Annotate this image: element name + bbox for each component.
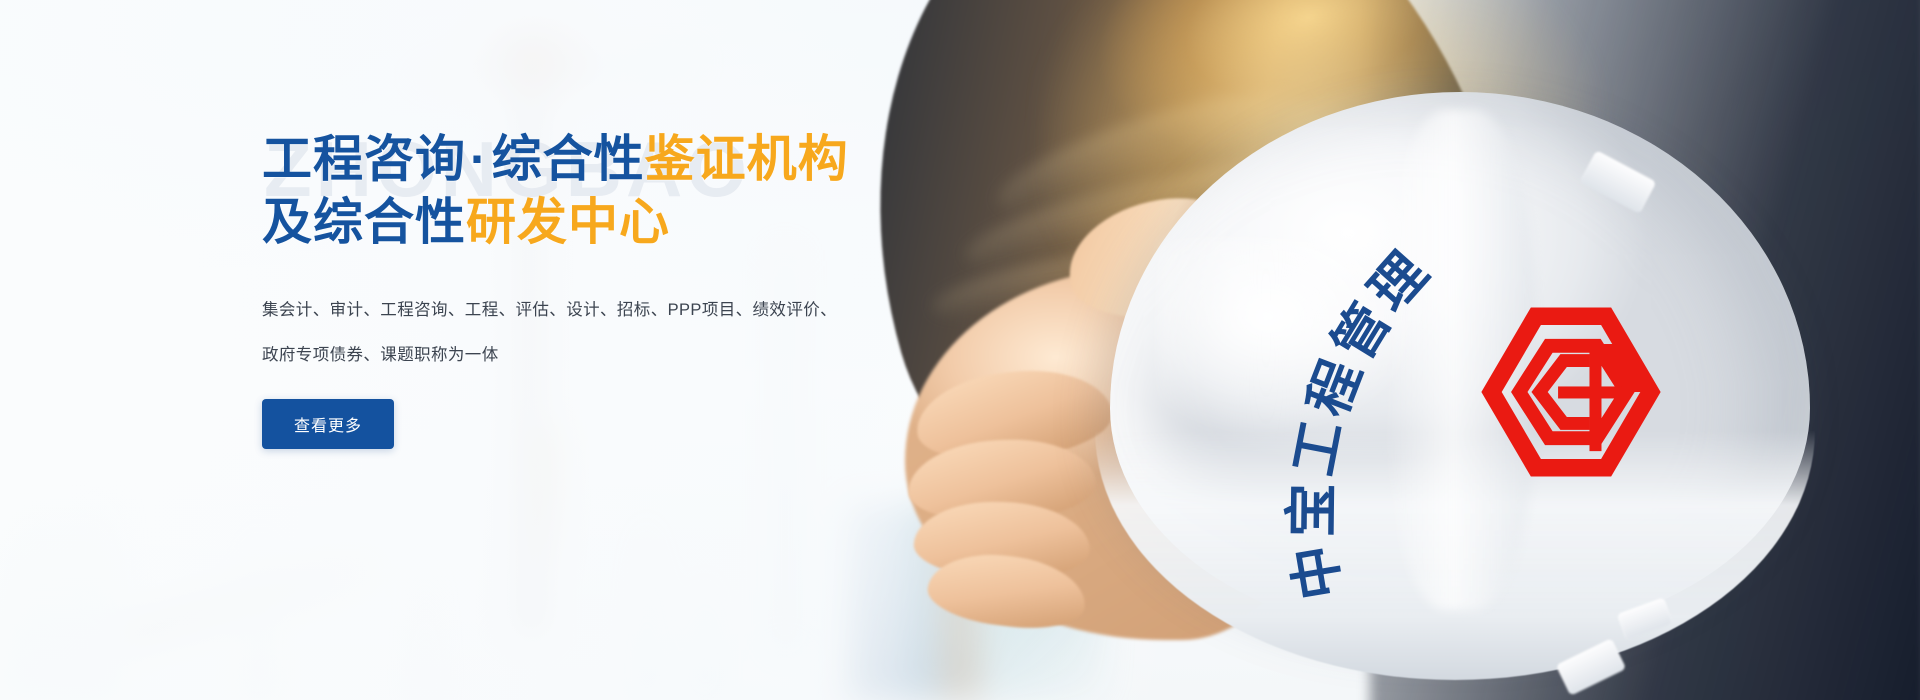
hand-holding-helmet-photo: 中宝工程管理 bbox=[810, 0, 1920, 700]
headline-line1-segment-blue-a: 工程咨询 bbox=[262, 131, 466, 187]
zhongbao-hexagon-logo-icon bbox=[1478, 307, 1664, 477]
headline-line-1: 工程咨询·综合性鉴证机构 bbox=[262, 128, 942, 191]
view-more-button[interactable]: 查看更多 bbox=[262, 399, 394, 449]
hero-banner: 中宝工程管理 bbox=[0, 0, 1920, 700]
headline-block: 工程咨询·综合性鉴证机构 及综合性研发中心 bbox=[262, 128, 942, 254]
description-block: 集会计、审计、工程咨询、工程、评估、设计、招标、PPP项目、绩效评价、 政府专项… bbox=[262, 288, 942, 379]
helmet-brand-textpath: 中宝工程管理 bbox=[1282, 238, 1442, 603]
headline-line1-segment-blue-b: 综合性 bbox=[492, 131, 645, 187]
headline-separator: · bbox=[466, 131, 492, 187]
helmet-brand-text: 中宝工程管理 bbox=[1282, 238, 1442, 603]
headline-line-2: 及综合性研发中心 bbox=[262, 191, 942, 254]
helmet-branding: 中宝工程管理 bbox=[1110, 92, 1810, 637]
description-line-1: 集会计、审计、工程咨询、工程、评估、设计、招标、PPP项目、绩效评价、 bbox=[262, 288, 942, 333]
headline-line2-segment-blue: 及综合性 bbox=[262, 194, 466, 250]
hero-copy: 工程咨询·综合性鉴证机构 及综合性研发中心 集会计、审计、工程咨询、工程、评估、… bbox=[262, 128, 942, 449]
headline-line1-segment-accent: 鉴证机构 bbox=[645, 131, 849, 187]
headline-line2-segment-accent: 研发中心 bbox=[466, 194, 670, 250]
helmet-arc-text: 中宝工程管理 bbox=[1110, 92, 1810, 637]
description-line-2: 政府专项债券、课题职称为一体 bbox=[262, 333, 942, 378]
